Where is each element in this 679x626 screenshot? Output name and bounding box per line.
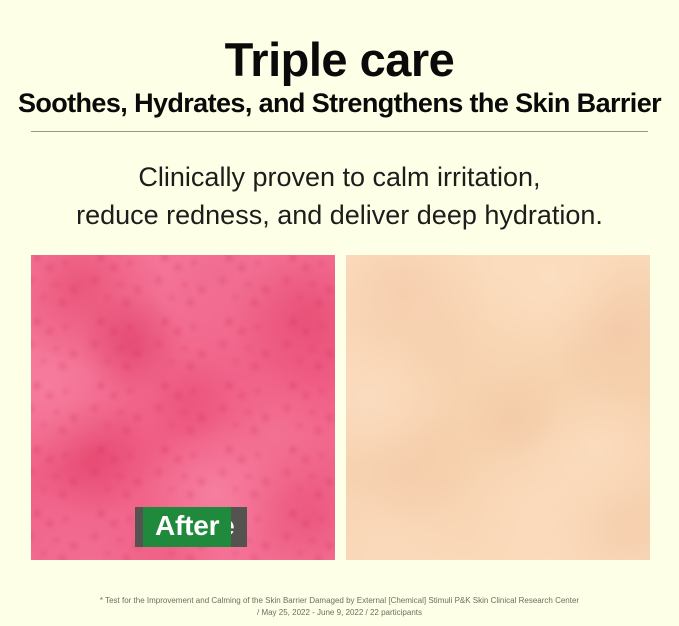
page-title: Triple care — [0, 33, 679, 87]
footnote-line-2: / May 25, 2022 - June 9, 2022 / 22 parti… — [0, 607, 679, 619]
after-skin-texture — [346, 255, 650, 560]
product-claim-page: Triple care Soothes, Hydrates, and Stren… — [0, 0, 679, 626]
page-subtitle: Soothes, Hydrates, and Strengthens the S… — [0, 86, 679, 120]
footnote-line-1: * Test for the Improvement and Calming o… — [0, 595, 679, 607]
claim-line-1: Clinically proven to calm irritation, — [0, 158, 679, 196]
claim-line-2: reduce redness, and deliver deep hydrati… — [0, 196, 679, 234]
horizontal-divider — [31, 131, 648, 132]
footnote: * Test for the Improvement and Calming o… — [0, 595, 679, 619]
claim-text: Clinically proven to calm irritation, re… — [0, 158, 679, 234]
after-badge: After — [143, 507, 231, 547]
after-photo — [346, 255, 650, 560]
before-after-comparison: Before After — [31, 255, 650, 560]
